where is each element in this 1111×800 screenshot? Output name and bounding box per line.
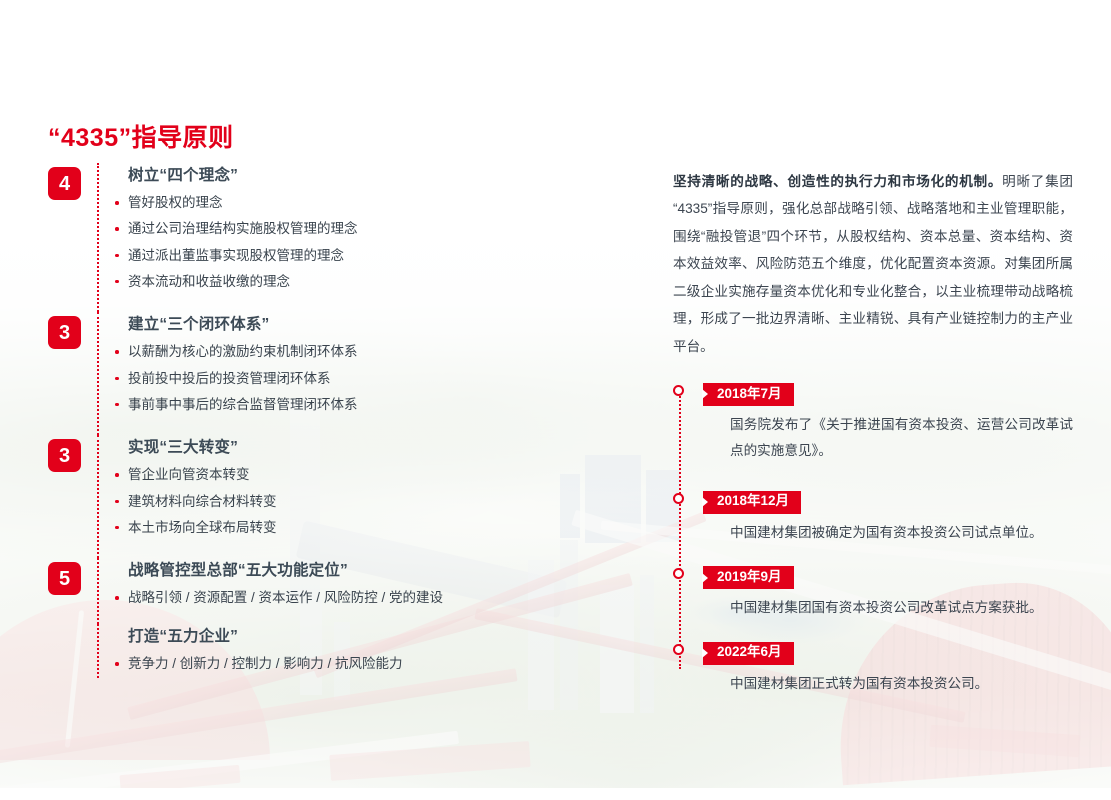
timeline-marker-circle-icon	[673, 568, 684, 579]
page-root: “4335”指导原则 4 树立“四个理念” 管好股权的理念 通过公司治理结构实施…	[0, 0, 1111, 800]
spacer	[114, 295, 648, 312]
paragraph-lead: 坚持清晰的战略、创造性的执行力和市场化的机制。	[673, 174, 1002, 189]
badge-cell	[48, 624, 97, 661]
timeline-date-badge: 2018年7月	[703, 383, 794, 406]
paragraph-rest: 明晰了集团“4335”指导原则，强化总部战略引领、战略落地和主业管理职能，围绕“…	[673, 174, 1073, 354]
list-item: 事前事中事后的综合监督管理闭环体系	[114, 392, 648, 418]
principle-heading: 树立“四个理念”	[128, 163, 648, 185]
spacer	[673, 465, 1073, 491]
timeline-item: 2018年12月 中国建材集团被确定为国有资本投资公司试点单位。	[673, 491, 1073, 546]
list-item: 通过派出董监事实现股权管理的理念	[114, 243, 648, 269]
badge-cell: 5	[48, 558, 97, 595]
principle-body: 战略管控型总部“五大功能定位” 战略引领 / 资源配置 / 资本运作 / 风险防…	[100, 558, 648, 624]
badge-cell: 4	[48, 163, 97, 200]
principle-block-three-transformations: 3 实现“三大转变” 管企业向管资本转变 建筑材料向综合材料转变 本土市场向全球…	[48, 435, 648, 558]
principle-body: 建立“三个闭环体系” 以薪酬为核心的激励约束机制闭环体系 投前投中投后的投资管理…	[100, 312, 648, 435]
spacer	[114, 611, 648, 624]
list-item: 本土市场向全球布局转变	[114, 515, 648, 541]
principle-badge: 5	[48, 562, 81, 595]
content-root: “4335”指导原则 4 树立“四个理念” 管好股权的理念 通过公司治理结构实施…	[0, 0, 1111, 800]
principle-bullet-list: 以薪酬为核心的激励约束机制闭环体系 投前投中投后的投资管理闭环体系 事前事中事后…	[114, 339, 648, 418]
principle-block-three-closed-loops: 3 建立“三个闭环体系” 以薪酬为核心的激励约束机制闭环体系 投前投中投后的投资…	[48, 312, 648, 435]
list-item: 战略引领 / 资源配置 / 资本运作 / 风险防控 / 党的建设	[114, 585, 648, 611]
list-item: 管企业向管资本转变	[114, 462, 648, 488]
timeline-item: 2018年7月 国务院发布了《关于推进国有资本投资、运营公司改革试点的实施意见》…	[673, 383, 1073, 465]
principle-badge: 3	[48, 316, 81, 349]
timeline-description: 国务院发布了《关于推进国有资本投资、运营公司改革试点的实施意见》。	[730, 412, 1073, 465]
timeline-marker-circle-icon	[673, 493, 684, 504]
principle-body: 实现“三大转变” 管企业向管资本转变 建筑材料向综合材料转变 本土市场向全球布局…	[100, 435, 648, 558]
spacer	[673, 622, 1073, 642]
list-item: 建筑材料向综合材料转变	[114, 489, 648, 515]
timeline: 2018年7月 国务院发布了《关于推进国有资本投资、运营公司改革试点的实施意见》…	[673, 383, 1073, 697]
timeline-date-badge: 2019年9月	[703, 566, 794, 589]
bottom-white-strip	[0, 788, 1111, 800]
principles-column: 4 树立“四个理念” 管好股权的理念 通过公司治理结构实施股权管理的理念 通过派…	[48, 163, 648, 678]
principle-heading: 战略管控型总部“五大功能定位”	[128, 558, 648, 580]
timeline-item: 2022年6月 中国建材集团正式转为国有资本投资公司。	[673, 642, 1073, 697]
principle-badge: 3	[48, 439, 81, 472]
principle-block-five-strengths: 打造“五力企业” 竞争力 / 创新力 / 控制力 / 影响力 / 抗风险能力	[48, 624, 648, 677]
list-item: 以薪酬为核心的激励约束机制闭环体系	[114, 339, 648, 365]
list-item: 管好股权的理念	[114, 190, 648, 216]
badge-cell: 3	[48, 312, 97, 349]
principle-heading: 实现“三大转变”	[128, 435, 648, 457]
summary-paragraph: 坚持清晰的战略、创造性的执行力和市场化的机制。明晰了集团“4335”指导原则，强…	[673, 168, 1073, 360]
principle-bullet-list: 竞争力 / 创新力 / 控制力 / 影响力 / 抗风险能力	[114, 651, 648, 677]
principle-heading: 打造“五力企业”	[128, 624, 648, 646]
principle-badge	[48, 628, 81, 661]
list-item: 竞争力 / 创新力 / 控制力 / 影响力 / 抗风险能力	[114, 651, 648, 677]
timeline-description: 中国建材集团正式转为国有资本投资公司。	[730, 671, 1073, 698]
timeline-item: 2019年9月 中国建材集团国有资本投资公司改革试点方案获批。	[673, 566, 1073, 621]
timeline-date-badge: 2018年12月	[703, 491, 801, 514]
timeline-date-badge: 2022年6月	[703, 642, 794, 665]
badge-cell: 3	[48, 435, 97, 472]
principle-heading: 建立“三个闭环体系”	[128, 312, 648, 334]
principle-bullet-list: 管好股权的理念 通过公司治理结构实施股权管理的理念 通过派出董监事实现股权管理的…	[114, 190, 648, 295]
timeline-description: 中国建材集团被确定为国有资本投资公司试点单位。	[730, 520, 1073, 547]
principle-body: 树立“四个理念” 管好股权的理念 通过公司治理结构实施股权管理的理念 通过派出董…	[100, 163, 648, 312]
summary-paragraph-column: 坚持清晰的战略、创造性的执行力和市场化的机制。明晰了集团“4335”指导原则，强…	[673, 168, 1073, 360]
timeline-marker-circle-icon	[673, 644, 684, 655]
spacer	[114, 418, 648, 435]
principle-block-five-functions: 5 战略管控型总部“五大功能定位” 战略引领 / 资源配置 / 资本运作 / 风…	[48, 558, 648, 624]
spacer	[114, 541, 648, 558]
principle-badge: 4	[48, 167, 81, 200]
principle-body: 打造“五力企业” 竞争力 / 创新力 / 控制力 / 影响力 / 抗风险能力	[100, 624, 648, 677]
timeline-description: 中国建材集团国有资本投资公司改革试点方案获批。	[730, 595, 1073, 622]
list-item: 通过公司治理结构实施股权管理的理念	[114, 216, 648, 242]
list-item: 资本流动和收益收缴的理念	[114, 269, 648, 295]
spacer	[673, 546, 1073, 566]
principle-bullet-list: 战略引领 / 资源配置 / 资本运作 / 风险防控 / 党的建设	[114, 585, 648, 611]
list-item: 投前投中投后的投资管理闭环体系	[114, 366, 648, 392]
page-title: “4335”指导原则	[48, 118, 234, 154]
principle-block-four-concepts: 4 树立“四个理念” 管好股权的理念 通过公司治理结构实施股权管理的理念 通过派…	[48, 163, 648, 312]
timeline-marker-circle-icon	[673, 385, 684, 396]
principle-bullet-list: 管企业向管资本转变 建筑材料向综合材料转变 本土市场向全球布局转变	[114, 462, 648, 541]
